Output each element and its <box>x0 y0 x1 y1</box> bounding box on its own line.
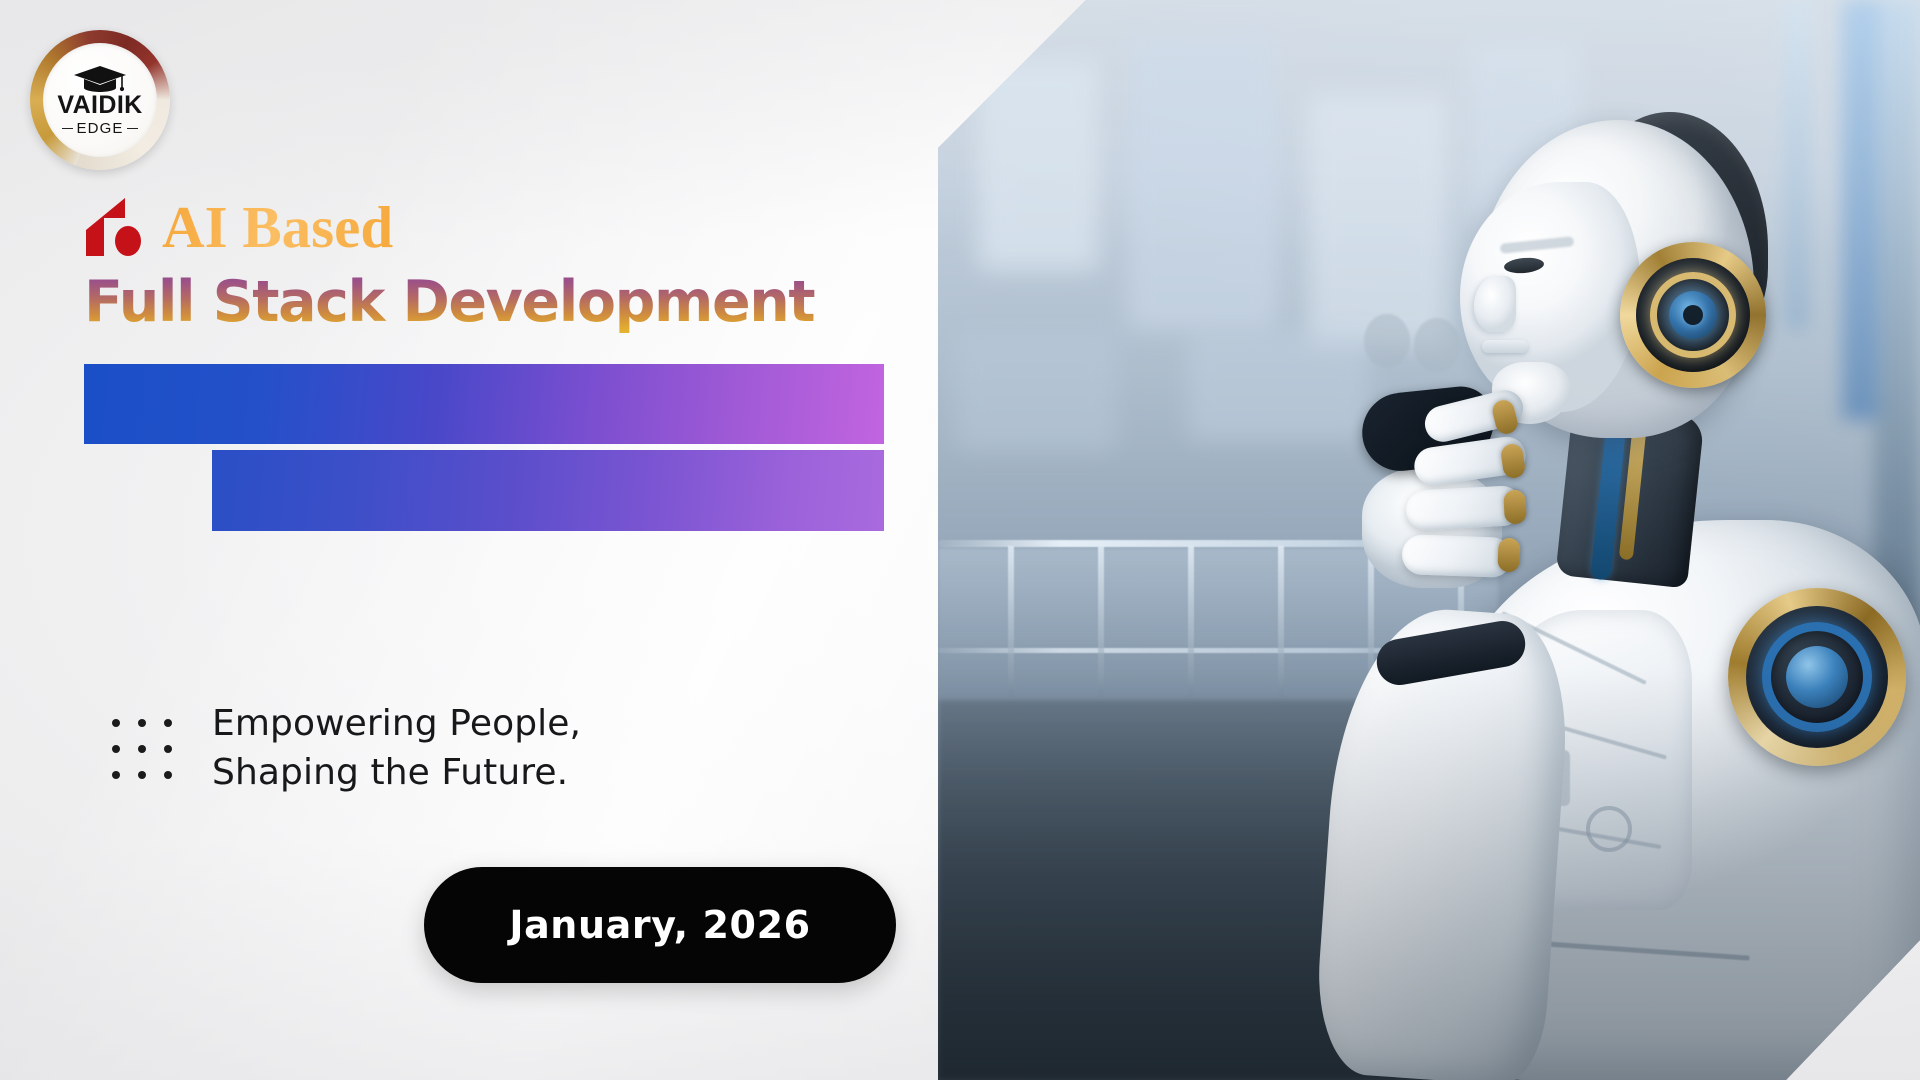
eyebrow-text: AI Based <box>162 198 393 257</box>
promo-banner: VAIDIK EDGE AI Based Full Stack Developm… <box>0 0 1920 1080</box>
bokeh-window <box>978 60 1098 270</box>
railing-post <box>1098 546 1104 696</box>
logo-inner: VAIDIK EDGE <box>43 43 157 157</box>
tagline-line-1: Empowering People, <box>212 703 581 744</box>
robot-knuckle <box>1503 489 1527 524</box>
logo-wordmark: VAIDIK <box>57 93 142 118</box>
logo-subwordmark-row: EDGE <box>62 121 139 136</box>
bokeh-window <box>1128 30 1278 330</box>
tagline-row: Empowering People, Shaping the Future. <box>112 700 581 797</box>
graduation-cap-icon <box>72 64 128 92</box>
dot <box>138 719 146 727</box>
date-pill-label: January, 2026 <box>509 903 810 947</box>
eyebrow-row: AI Based <box>84 196 884 258</box>
robot-palm-detail <box>1364 314 1410 368</box>
headline-tech-line-1: C#(.net), MVC & <box>84 364 884 445</box>
robot-hand <box>1362 390 1562 660</box>
dot <box>112 719 120 727</box>
logo-subwordmark: EDGE <box>77 121 124 136</box>
railing-post <box>1008 546 1014 696</box>
robot-palm-detail <box>1414 318 1460 372</box>
ai-robot-photo <box>938 0 1920 1080</box>
dot <box>164 719 172 727</box>
date-pill-button[interactable]: January, 2026 <box>424 867 896 983</box>
logo-rule-left <box>62 128 73 130</box>
dot <box>138 771 146 779</box>
dot <box>138 745 146 753</box>
photo-backdrop <box>938 0 1920 1080</box>
brand-logo[interactable]: VAIDIK EDGE <box>30 30 170 170</box>
robot-badge <box>1586 806 1632 852</box>
robot-figure <box>1268 90 1920 1080</box>
robot-finger <box>1401 534 1512 578</box>
robot-ear-module-pupil <box>1683 305 1703 325</box>
headline-title: Full Stack Development <box>84 272 884 334</box>
bokeh-window <box>956 330 1116 450</box>
dot <box>112 745 120 753</box>
robot-shoulder-core <box>1786 646 1848 708</box>
tagline-text: Empowering People, Shaping the Future. <box>212 700 581 797</box>
robot-nose <box>1474 276 1516 332</box>
dot-grid-icon <box>112 719 172 779</box>
logo-rule-right <box>127 128 138 130</box>
tagline-line-2: Shaping the Future. <box>212 752 568 793</box>
robot-knuckle <box>1497 538 1520 573</box>
headline-tech-line-2: REST API <box>212 450 884 531</box>
railing-post <box>1188 546 1194 696</box>
headline-block: AI Based Full Stack Development C#(.net)… <box>84 196 884 531</box>
dot <box>164 745 172 753</box>
robot-lips <box>1482 340 1528 353</box>
left-content-panel: VAIDIK EDGE AI Based Full Stack Developm… <box>0 0 940 1080</box>
dot <box>112 771 120 779</box>
dot <box>164 771 172 779</box>
red-flag-mark-icon <box>84 196 146 258</box>
